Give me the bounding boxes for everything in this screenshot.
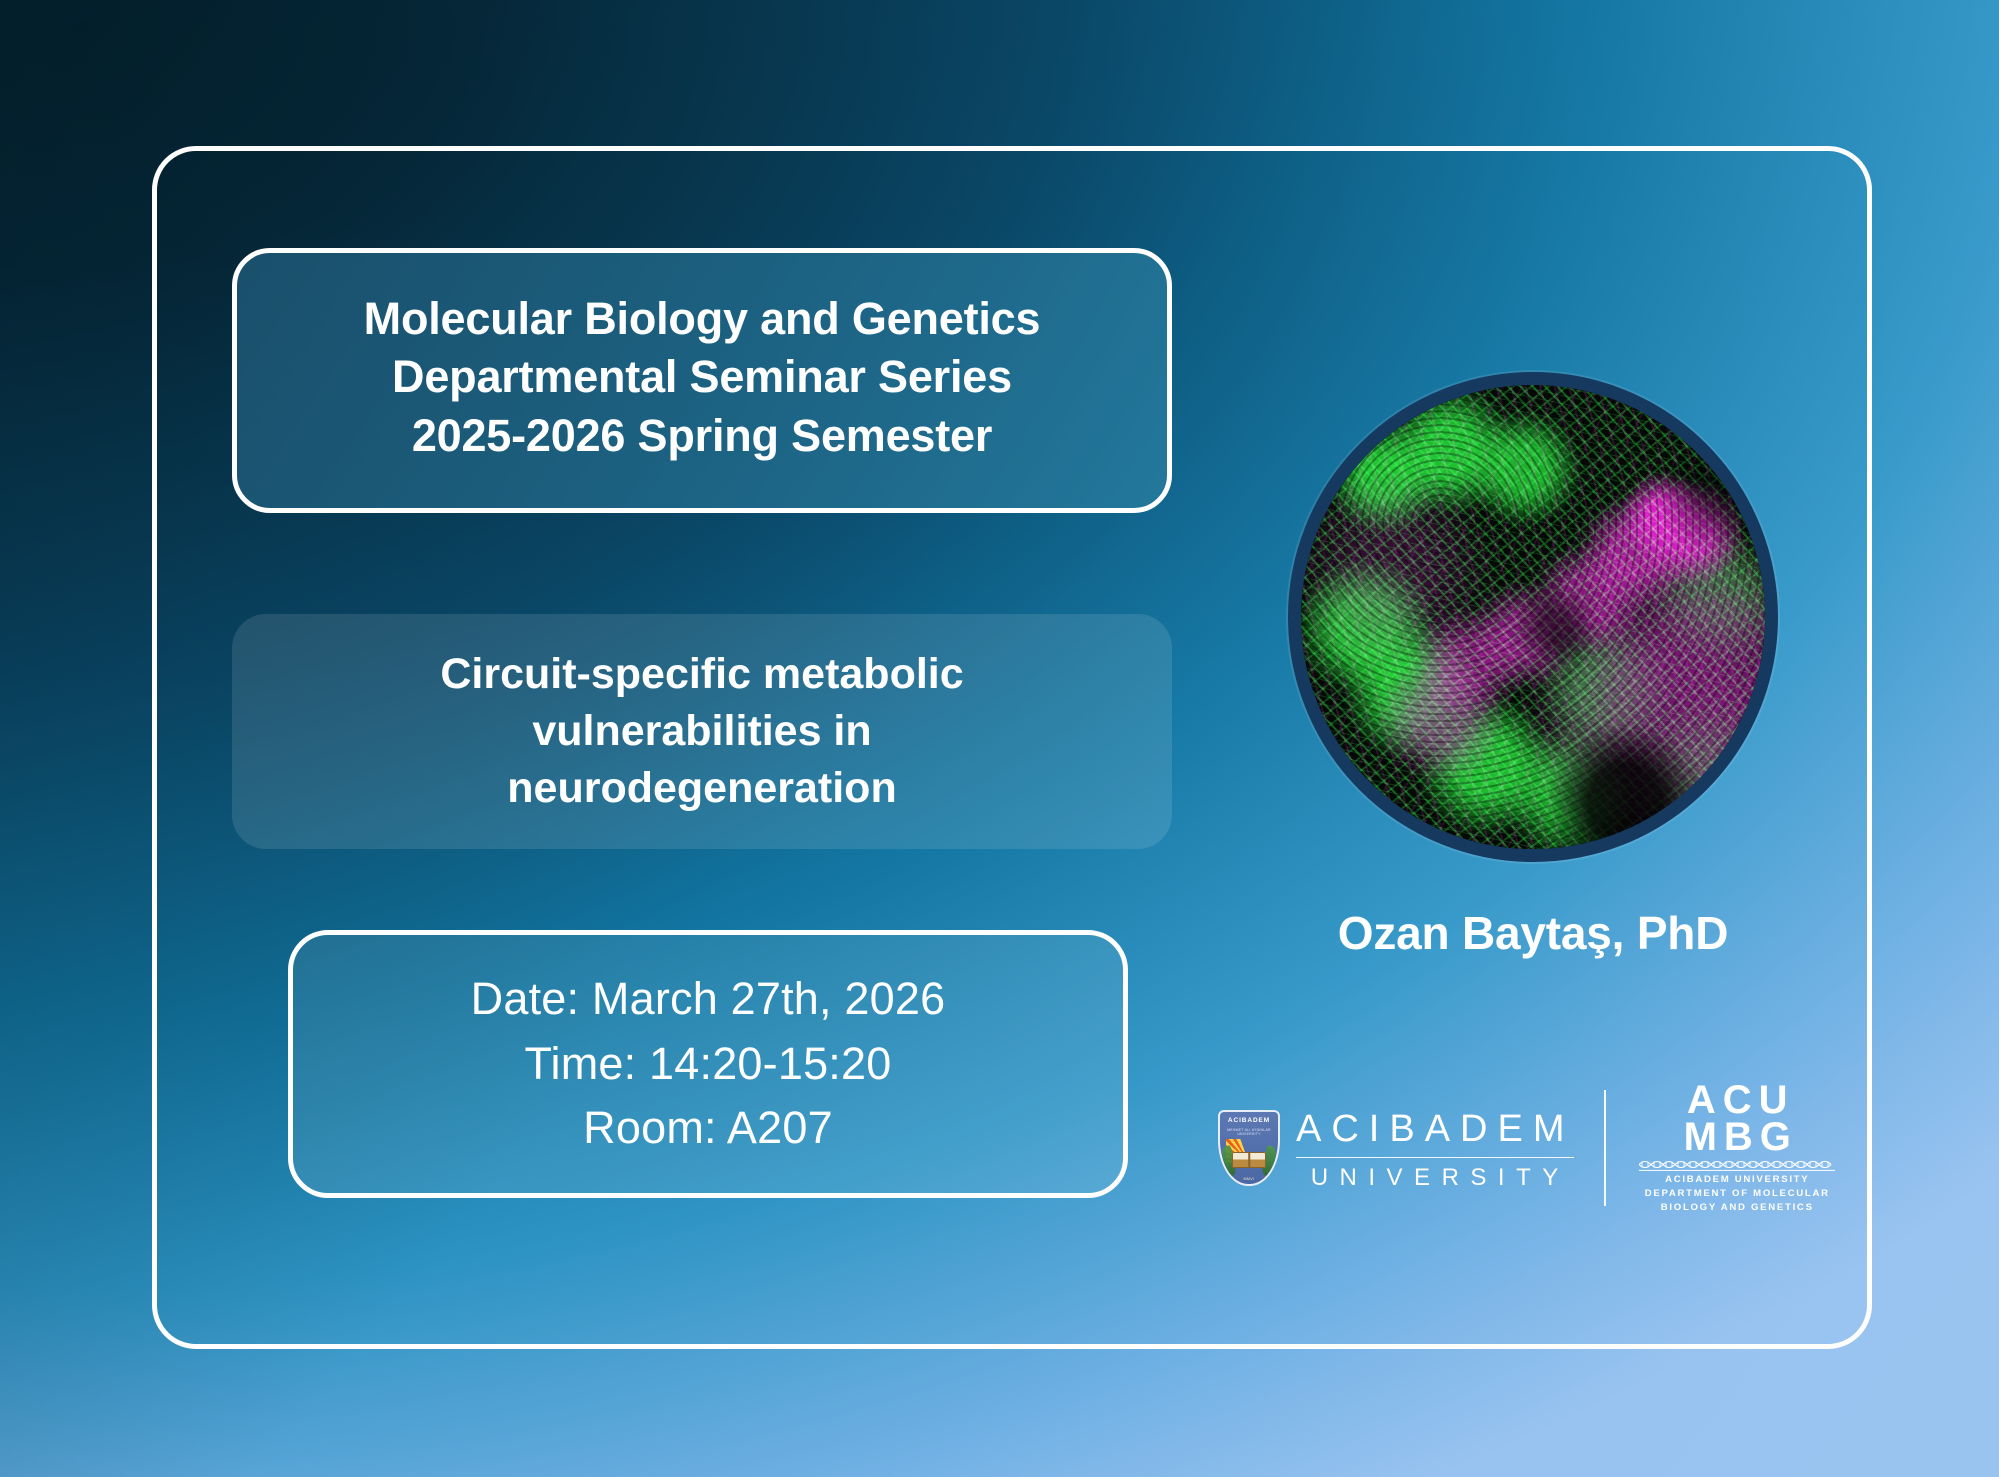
detail-date: Date: March 27th, 2026 (471, 967, 946, 1032)
crest-open-book-icon (1232, 1152, 1266, 1168)
title-line-1: Molecular Biology and Genetics (364, 290, 1041, 348)
seminar-series-title-card: Molecular Biology and Genetics Departmen… (232, 248, 1172, 513)
right-content-column: Ozan Baytaş, PhD (1238, 372, 1828, 960)
mbg-caption-line-1: ACIBADEM UNIVERSITY (1665, 1173, 1809, 1187)
dna-helix-divider-icon (1639, 1158, 1835, 1171)
speaker-name: Ozan Baytaş, PhD (1238, 906, 1828, 960)
acu-mbg-department-logo: ACU MBG (1636, 1082, 1838, 1214)
topic-line-3: neurodegeneration (507, 760, 896, 817)
mbg-caption-line-2: DEPARTMENT OF MOLECULAR (1645, 1187, 1830, 1201)
left-content-column: Molecular Biology and Genetics Departmen… (232, 248, 1172, 513)
seminar-topic-card: Circuit-specific metabolic vulnerabiliti… (232, 614, 1172, 849)
title-line-2: Departmental Seminar Series (392, 348, 1012, 406)
acibadem-wordmark-sub: UNIVERSITY (1296, 1166, 1574, 1190)
logo-vertical-divider (1604, 1090, 1606, 1206)
topic-line-1: Circuit-specific metabolic (440, 646, 963, 703)
acibadem-crest-icon: ACIBADEM MEHMET ALI AYDINLAR UNIVERSITY … (1218, 1110, 1280, 1186)
mbg-caption-line-3: BIOLOGY AND GENETICS (1661, 1201, 1814, 1215)
crest-subtitle: MEHMET ALI AYDINLAR UNIVERSITY (1220, 1128, 1278, 1137)
crest-motto: MMVI (1220, 1177, 1278, 1181)
acibadem-wordmark: ACIBADEM UNIVERSITY (1296, 1106, 1574, 1191)
fluorescence-micrograph-image (1301, 385, 1765, 849)
speaker-research-image-frame (1288, 372, 1778, 862)
micrograph-dark-speckle-texture (1301, 385, 1765, 849)
acibadem-wordmark-main: ACIBADEM (1296, 1110, 1574, 1157)
acibadem-wordmark-rule (1296, 1157, 1574, 1159)
seminar-poster: Molecular Biology and Genetics Departmen… (0, 0, 1999, 1477)
acibadem-university-logo: ACIBADEM MEHMET ALI AYDINLAR UNIVERSITY … (1218, 1106, 1574, 1191)
mbg-logo-line-1: ACU (1680, 1082, 1795, 1119)
seminar-details-card: Date: March 27th, 2026 Time: 14:20-15:20… (288, 930, 1128, 1198)
detail-time: Time: 14:20-15:20 (525, 1032, 892, 1097)
crest-title: ACIBADEM (1220, 1117, 1278, 1124)
detail-room: Room: A207 (583, 1096, 833, 1161)
title-line-3: 2025-2026 Spring Semester (412, 407, 992, 465)
mbg-logo-line-2: MBG (1677, 1119, 1798, 1156)
topic-line-2: vulnerabilities in (532, 703, 871, 760)
logo-strip: ACIBADEM MEHMET ALI AYDINLAR UNIVERSITY … (1218, 1078, 1838, 1218)
